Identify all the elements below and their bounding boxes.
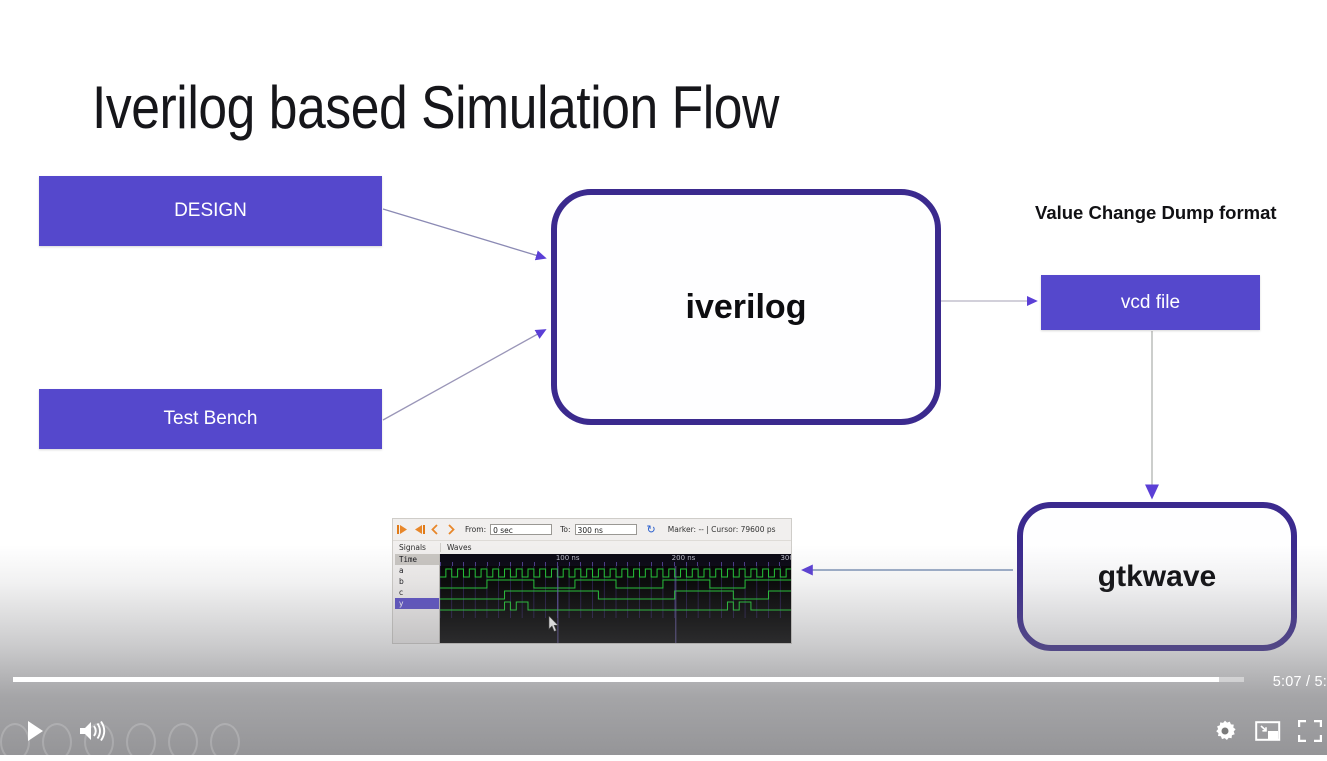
- waveform-traces: [440, 566, 792, 644]
- box-iverilog: iverilog: [551, 189, 941, 425]
- label-vcd-format: Value Change Dump format: [1035, 198, 1285, 229]
- gtkwave-toolbar: From: 0 sec To: 300 ns ↻ Marker: -- | Cu…: [393, 519, 791, 541]
- box-gtkwave: gtkwave: [1017, 502, 1297, 651]
- waveform-panel[interactable]: 100 ns200 ns300: [440, 554, 791, 644]
- from-label: From:: [465, 525, 486, 534]
- next-icon[interactable]: [445, 524, 457, 535]
- fullscreen-icon: [1298, 720, 1322, 742]
- refresh-icon[interactable]: ↻: [647, 524, 656, 535]
- marker-status-text: Marker: -- | Cursor: 79600 ps: [668, 525, 776, 534]
- box-design-label: DESIGN: [174, 200, 247, 222]
- to-label: To:: [560, 525, 570, 534]
- wave-trace-a: [440, 569, 792, 577]
- box-design: DESIGN: [39, 176, 382, 246]
- arrow-testbench-to-iverilog: [383, 330, 545, 420]
- progress-bar-row: 5:07 / 5:: [0, 674, 1327, 684]
- play-icon: [26, 720, 46, 742]
- arrow-design-to-iverilog: [383, 209, 545, 258]
- ghost-thumbnail: [210, 723, 240, 761]
- time-tick-label: 200 ns: [672, 554, 696, 562]
- signal-row-c[interactable]: c: [395, 587, 439, 598]
- jump-to-end-icon[interactable]: [413, 524, 425, 535]
- waves-column-header: Waves: [440, 543, 472, 552]
- play-button[interactable]: [22, 717, 50, 745]
- time-tick-mark: [791, 562, 792, 566]
- box-gtkwave-label: gtkwave: [1098, 560, 1216, 594]
- box-vcd-file-label: vcd file: [1121, 292, 1180, 314]
- mouse-pointer-icon: [548, 616, 559, 632]
- time-display: 5:07 / 5:: [1273, 674, 1327, 690]
- gtkwave-body: Timeabcy 100 ns200 ns300: [393, 554, 791, 644]
- miniplayer-button[interactable]: [1253, 717, 1283, 745]
- time-tick-label: 300: [780, 554, 792, 562]
- signal-row-a[interactable]: a: [395, 565, 439, 576]
- gtkwave-screenshot: From: 0 sec To: 300 ns ↻ Marker: -- | Cu…: [392, 518, 792, 644]
- signals-list[interactable]: Timeabcy: [393, 554, 440, 644]
- gear-icon: [1213, 719, 1237, 743]
- previous-icon[interactable]: [429, 524, 441, 535]
- signal-row-y[interactable]: y: [395, 598, 439, 609]
- box-vcd-file: vcd file: [1041, 275, 1260, 330]
- signals-column-header: Signals: [393, 543, 440, 552]
- miniplayer-icon: [1255, 720, 1281, 742]
- ghost-thumbnail: [168, 723, 198, 761]
- waveform-time-axis: 100 ns200 ns300: [440, 554, 791, 566]
- to-input[interactable]: 300 ns: [575, 524, 637, 535]
- progress-bar[interactable]: [13, 677, 1244, 682]
- box-iverilog-label: iverilog: [686, 288, 807, 327]
- ghost-thumbnail: [126, 723, 156, 761]
- video-player-controls: 5:07 / 5:: [0, 663, 1327, 755]
- settings-button[interactable]: [1211, 717, 1239, 745]
- from-input[interactable]: 0 sec: [490, 524, 552, 535]
- fullscreen-button[interactable]: [1295, 717, 1325, 745]
- signal-row-time[interactable]: Time: [395, 554, 439, 565]
- box-test-bench: Test Bench: [39, 389, 382, 449]
- jump-to-start-icon[interactable]: [397, 524, 409, 535]
- volume-icon: [78, 719, 108, 743]
- volume-button[interactable]: [76, 717, 110, 745]
- time-tick-label: 100 ns: [556, 554, 580, 562]
- progress-bar-played: [13, 677, 1219, 682]
- box-test-bench-label: Test Bench: [164, 408, 258, 430]
- player-buttons-row: [0, 705, 1327, 753]
- wave-trace-b: [440, 580, 792, 588]
- slide-canvas: Iverilog based Simulation Flow DESIGN Te…: [0, 0, 1327, 755]
- page-title: Iverilog based Simulation Flow: [92, 78, 779, 138]
- gtkwave-column-headers: Signals Waves: [393, 541, 791, 554]
- signal-row-b[interactable]: b: [395, 576, 439, 587]
